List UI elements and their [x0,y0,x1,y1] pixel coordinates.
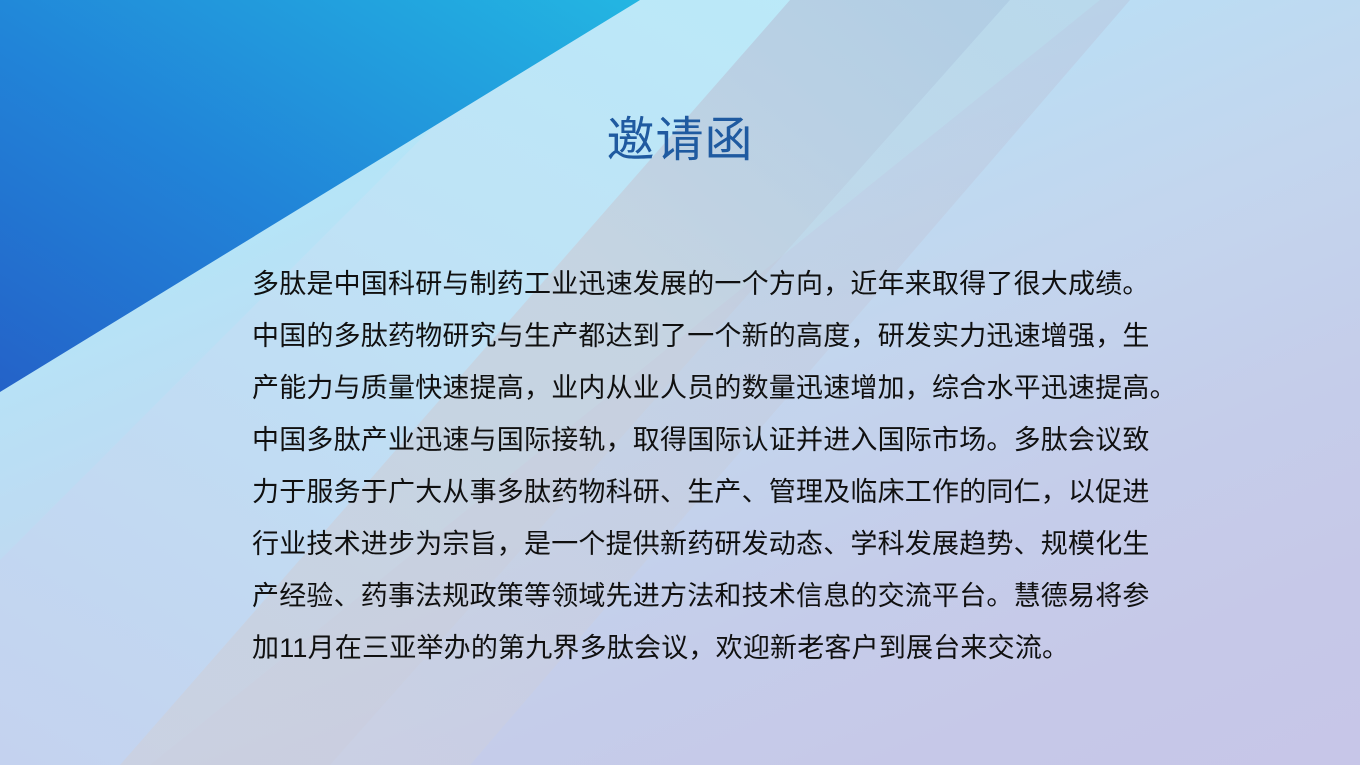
page-title: 邀请函 [606,112,753,170]
body-line: 行业技术进步为宗旨，是一个提供新药研发动态、学科发展趋势、规模化生 [252,518,1220,570]
body-line: 多肽是中国科研与制药工业迅速发展的一个方向，近年来取得了很大成绩。 [252,258,1220,310]
body-line: 产经验、药事法规政策等领域先进方法和技术信息的交流平台。慧德易将参 [252,570,1220,622]
body-line: 中国多肽产业迅速与国际接轨，取得国际认证并进入国际市场。多肽会议致 [252,414,1220,466]
body-line: 力于服务于广大从事多肽药物科研、生产、管理及临床工作的同仁，以促进 [252,466,1220,518]
presentation-slide: 邀请函 多肽是中国科研与制药工业迅速发展的一个方向，近年来取得了很大成绩。 中国… [0,0,1360,765]
body-line: 中国的多肽药物研究与生产都达到了一个新的高度，研发实力迅速增强，生 [252,310,1220,362]
body-text-block: 多肽是中国科研与制药工业迅速发展的一个方向，近年来取得了很大成绩。 中国的多肽药… [252,258,1220,674]
body-line: 加11月在三亚举办的第九界多肽会议，欢迎新老客户到展台来交流。 [252,622,1220,674]
body-line: 产能力与质量快速提高，业内从业人员的数量迅速增加，综合水平迅速提高。 [252,362,1220,414]
title-container: 邀请函 [0,112,1360,170]
